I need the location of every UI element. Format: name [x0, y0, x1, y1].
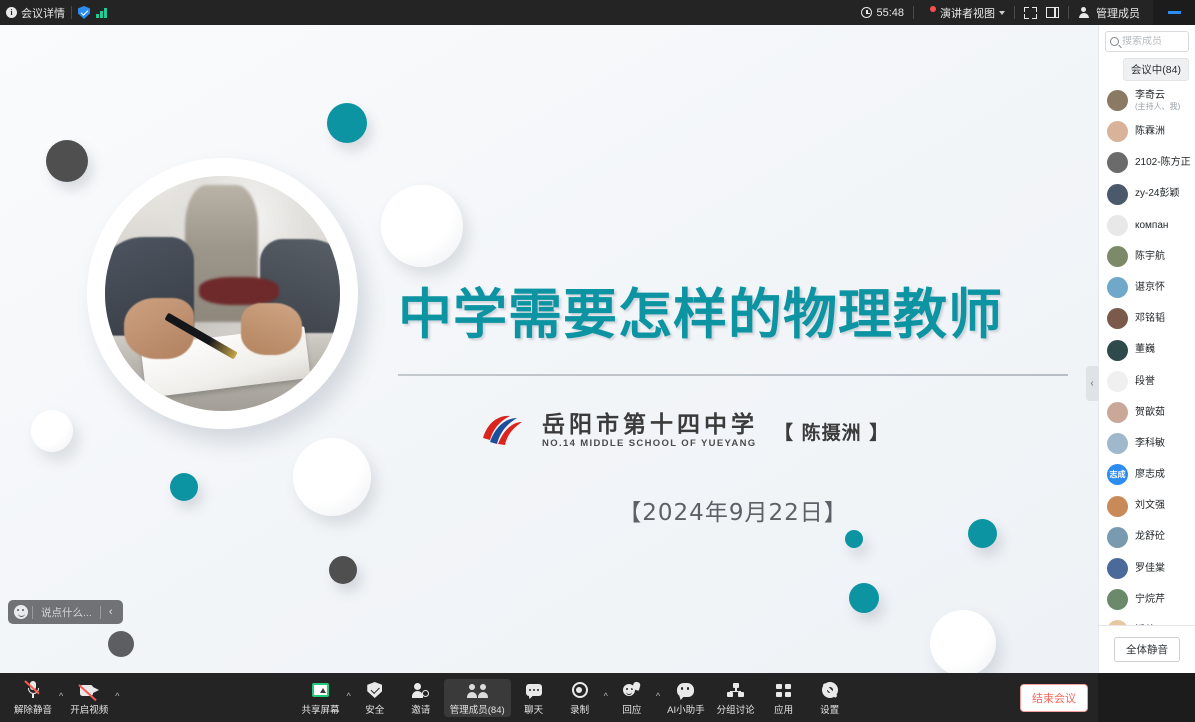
- security-shield-icon: [367, 681, 382, 700]
- avatar: [1107, 277, 1128, 298]
- floating-chat-input[interactable]: 说点什么...: [33, 605, 100, 620]
- toolbar-start-video-label: 开启视频: [70, 702, 108, 716]
- list-item[interactable]: компан: [1107, 210, 1195, 241]
- list-item[interactable]: 志成廖志成: [1107, 459, 1195, 490]
- meeting-timer: 55:48: [861, 7, 904, 19]
- fullscreen-icon[interactable]: [1024, 7, 1037, 19]
- avatar: [1107, 371, 1128, 392]
- toolbar-chat-label: 聊天: [524, 702, 543, 716]
- mic-options-chevron-icon[interactable]: ^: [59, 691, 63, 701]
- toolbar-reactions-button[interactable]: 回应: [609, 679, 655, 717]
- toolbar-manage-participants-button[interactable]: 管理成员(84): [444, 679, 511, 717]
- toolbar-share-screen-button[interactable]: 共享屏幕: [296, 679, 346, 717]
- toolbar-apps-label: 应用: [774, 702, 793, 716]
- list-item[interactable]: 李科敏: [1107, 428, 1195, 459]
- slide-school-row: 岳阳市第十四中学 NO.14 MIDDLE SCHOOL OF YUEYANG …: [480, 413, 889, 449]
- slide-presenter: 【 陈摄洲 】: [774, 418, 889, 445]
- floating-avatar-bubble[interactable]: [108, 631, 134, 657]
- participant-name: 宁烷芹: [1135, 594, 1165, 606]
- toolbar-security-label: 安全: [365, 702, 384, 716]
- avatar: [1107, 340, 1128, 361]
- slide-photo-image: [105, 176, 340, 411]
- toolbar-ai-assistant-label: AI小助手: [667, 702, 704, 716]
- participants-panel: 会议中(84) 李奇云(主持人、我) 陈霖洲 2102-陈方正 zy-24彭颖 …: [1098, 25, 1195, 673]
- breakout-rooms-icon: [727, 681, 744, 700]
- titlebar-divider-4: [1068, 6, 1069, 19]
- avatar: [1107, 246, 1128, 267]
- toolbar-settings-label: 设置: [820, 702, 839, 716]
- school-name-cn: 岳阳市第十四中学: [542, 413, 758, 437]
- reactions-icon: [623, 681, 640, 700]
- avatar: [1107, 152, 1128, 173]
- minimize-icon: [1168, 11, 1181, 14]
- share-screen-icon: [312, 681, 329, 700]
- floating-chat-bar[interactable]: 说点什么... ‹: [8, 600, 123, 624]
- deco-circle-teal-3: [845, 530, 863, 548]
- presentation-slide: 中学需要怎样的物理教师 岳阳市第十四中学 NO.14 MIDDLE SCHOOL…: [0, 25, 1098, 673]
- participants-search[interactable]: [1105, 31, 1189, 52]
- avatar: [1107, 527, 1128, 548]
- toolbar-reactions-label: 回应: [622, 702, 641, 716]
- avatar: [1107, 308, 1128, 329]
- participant-name: 李科敏: [1135, 438, 1165, 450]
- avatar: [1107, 558, 1128, 579]
- participants-tab-row: 会议中(84): [1099, 56, 1195, 85]
- shared-screen-stage: 中学需要怎样的物理教师 岳阳市第十四中学 NO.14 MIDDLE SCHOOL…: [0, 25, 1098, 673]
- timer-value: 55:48: [876, 7, 904, 19]
- ai-assistant-icon: [677, 681, 694, 700]
- avatar: 志成: [1107, 464, 1128, 485]
- apps-grid-icon: [776, 681, 791, 700]
- slide-title: 中学需要怎样的物理教师: [398, 288, 1068, 342]
- manage-participants-icon: [468, 681, 487, 700]
- avatar: [1107, 433, 1128, 454]
- participant-name: 龙舒砼: [1135, 531, 1165, 543]
- list-item[interactable]: 段誉: [1107, 366, 1195, 397]
- list-item[interactable]: 龙舒砼: [1107, 522, 1195, 553]
- record-options-chevron-icon[interactable]: ^: [604, 691, 608, 701]
- participant-name: 谌京怀: [1135, 282, 1165, 294]
- list-item[interactable]: 罗佳棠: [1107, 553, 1195, 584]
- toolbar-ai-assistant-button[interactable]: AI小助手: [661, 679, 710, 717]
- toolbar-settings-button[interactable]: 设置: [807, 679, 853, 717]
- end-meeting-button[interactable]: 结束会议: [1020, 684, 1088, 712]
- participant-name: 罗佳棠: [1135, 563, 1165, 575]
- participant-name: 陈霖洲: [1135, 126, 1165, 138]
- school-name-block: 岳阳市第十四中学 NO.14 MIDDLE SCHOOL OF YUEYANG: [542, 413, 758, 448]
- camera-off-icon: [80, 681, 99, 700]
- participant-name: 邓铭韬: [1135, 313, 1165, 325]
- toolbar-breakout-rooms-label: 分组讨论: [717, 702, 755, 716]
- list-item[interactable]: 陈宇航: [1107, 241, 1195, 272]
- list-item[interactable]: 刘文强: [1107, 490, 1195, 521]
- meeting-window: i 会议详情 55:48 演讲者视图: [0, 0, 1195, 722]
- mute-all-button[interactable]: 全体静音: [1114, 637, 1180, 662]
- invite-user-icon: [412, 681, 429, 700]
- reactions-options-chevron-icon[interactable]: ^: [656, 691, 660, 701]
- slide-title-divider: [398, 374, 1068, 376]
- participant-name: zy-24彭颖: [1135, 188, 1179, 200]
- avatar: [1107, 215, 1128, 236]
- participant-name: компан: [1135, 220, 1168, 232]
- titlebar-divider-2: [913, 6, 914, 19]
- deco-circle-dark-2: [329, 556, 357, 584]
- camera-options-chevron-icon[interactable]: ^: [115, 691, 119, 701]
- list-item[interactable]: 潘帅: [1107, 615, 1195, 625]
- toolbar-center-group: 共享屏幕 ^ 安全 邀请 管理成员(84) 聊天 录制: [296, 679, 853, 717]
- avatar: [1107, 121, 1128, 142]
- panel-collapse-handle[interactable]: ‹: [1086, 366, 1098, 401]
- participant-name: 陈宇航: [1135, 251, 1165, 263]
- chevron-down-icon[interactable]: [999, 11, 1005, 15]
- avatar: [1107, 402, 1128, 423]
- list-item[interactable]: 宁烷芹: [1107, 584, 1195, 615]
- toolbar-record-button[interactable]: 录制: [557, 679, 603, 717]
- avatar: [1107, 496, 1128, 517]
- participant-role: (主持人、我): [1135, 102, 1180, 111]
- avatar: [1107, 184, 1128, 205]
- list-item[interactable]: 2102-陈方正: [1107, 147, 1195, 178]
- chevron-left-icon[interactable]: ‹: [101, 601, 121, 623]
- settings-gear-icon: [822, 681, 838, 700]
- participant-name: 廖志成: [1135, 469, 1165, 481]
- split-view-icon[interactable]: [1046, 7, 1059, 18]
- deco-circle-dark-1: [46, 140, 88, 182]
- titlebar-left-group: i 会议详情: [0, 5, 107, 21]
- slide-photo: [87, 158, 358, 429]
- school-name-en: NO.14 MIDDLE SCHOOL OF YUEYANG: [542, 438, 758, 449]
- deco-circle-white-2: [31, 410, 73, 452]
- share-options-chevron-icon[interactable]: ^: [347, 691, 351, 701]
- info-icon: i: [6, 7, 17, 18]
- list-item[interactable]: 贺歆茹: [1107, 397, 1195, 428]
- deco-circle-teal-1: [327, 103, 367, 143]
- toolbar-left-group: 解除静音 ^ 开启视频 ^: [0, 679, 121, 717]
- record-icon: [572, 681, 588, 700]
- mic-muted-icon: [27, 681, 40, 700]
- speaker-view-icon: [923, 7, 936, 19]
- participant-name: 刘文强: [1135, 500, 1165, 512]
- list-item[interactable]: 谌京怀: [1107, 272, 1195, 303]
- deco-circle-white-1: [381, 185, 463, 267]
- tab-in-meeting[interactable]: 会议中(84): [1123, 58, 1189, 81]
- toolbar-unmute-button[interactable]: 解除静音: [8, 679, 58, 717]
- toolbar-security-button[interactable]: 安全: [352, 679, 398, 717]
- deco-circle-white-3: [293, 438, 371, 516]
- toolbar-start-video-button[interactable]: 开启视频: [64, 679, 114, 717]
- toolbar-chat-button[interactable]: 聊天: [511, 679, 557, 717]
- toolbar-invite-label: 邀请: [411, 702, 430, 716]
- participants-list[interactable]: 李奇云(主持人、我) 陈霖洲 2102-陈方正 zy-24彭颖 компан 陈…: [1099, 85, 1195, 625]
- search-input[interactable]: [1122, 36, 1184, 47]
- list-item[interactable]: 董巍: [1107, 335, 1195, 366]
- meeting-details-label: 会议详情: [21, 5, 65, 21]
- toolbar-record-label: 录制: [570, 702, 589, 716]
- toolbar-manage-participants-label: 管理成员(84): [450, 702, 505, 716]
- deco-circle-teal-2: [170, 473, 198, 501]
- search-icon: [1110, 37, 1119, 46]
- titlebar-divider-3: [1014, 6, 1015, 19]
- list-item[interactable]: zy-24彭颖: [1107, 179, 1195, 210]
- participant-name: 2102-陈方正: [1135, 157, 1191, 169]
- chat-bubble-icon: [526, 681, 542, 700]
- view-mode-button[interactable]: 演讲者视图: [923, 5, 1005, 21]
- titlebar-right-group: 55:48 演讲者视图 管理成员: [861, 0, 1195, 25]
- participant-name: 董巍: [1135, 344, 1155, 356]
- clock-icon: [861, 7, 872, 18]
- deco-circle-white-4: [930, 610, 996, 673]
- slide-date: 【2024年9月22日】: [398, 493, 1068, 527]
- view-mode-label: 演讲者视图: [940, 5, 995, 21]
- signal-bars-icon[interactable]: [96, 7, 107, 18]
- meeting-details-button[interactable]: i 会议详情: [6, 5, 65, 21]
- participant-name: 李奇云: [1135, 90, 1180, 102]
- deco-circle-teal-5: [849, 583, 879, 613]
- shield-check-icon[interactable]: [78, 6, 90, 19]
- list-item[interactable]: 陈霖洲: [1107, 116, 1195, 147]
- toolbar-invite-button[interactable]: 邀请: [398, 679, 444, 717]
- toolbar-breakout-rooms-button[interactable]: 分组讨论: [711, 679, 761, 717]
- avatar: [1107, 90, 1128, 111]
- toolbar-apps-button[interactable]: 应用: [761, 679, 807, 717]
- people-icon: [1078, 7, 1092, 19]
- participant-name: 贺歆茹: [1135, 407, 1165, 419]
- smiley-face-icon[interactable]: [10, 601, 32, 623]
- titlebar: i 会议详情 55:48 演讲者视图: [0, 0, 1195, 25]
- toolbar-share-screen-label: 共享屏幕: [302, 702, 340, 716]
- avatar: [1107, 589, 1128, 610]
- participant-name: 段誉: [1135, 376, 1155, 388]
- school-logo-icon: [480, 413, 526, 449]
- manage-participants-label: 管理成员: [1096, 5, 1140, 21]
- titlebar-divider-1: [71, 6, 72, 19]
- manage-participants-titlebar-button[interactable]: 管理成员: [1078, 5, 1140, 21]
- list-item[interactable]: 邓铭韬: [1107, 303, 1195, 334]
- participants-panel-footer: 全体静音: [1099, 625, 1195, 673]
- meeting-toolbar: 解除静音 ^ 开启视频 ^ 共享屏幕 ^ 安全 邀: [0, 673, 1098, 722]
- minimize-button[interactable]: [1153, 0, 1195, 25]
- toolbar-unmute-label: 解除静音: [14, 702, 52, 716]
- list-item[interactable]: 李奇云(主持人、我): [1107, 85, 1195, 116]
